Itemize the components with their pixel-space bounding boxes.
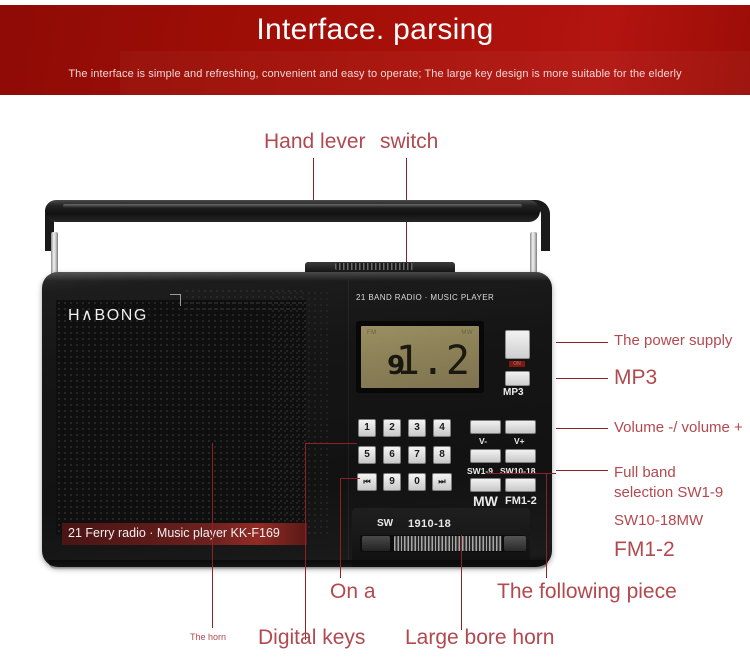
leader-line-following-piece [546, 473, 547, 578]
page-title: Interface. parsing [0, 13, 750, 47]
annotation-power-supply: The power supply [614, 332, 732, 349]
key-0[interactable]: 0 [408, 473, 426, 491]
key-6[interactable]: 6 [383, 446, 401, 464]
annotation-selection-sw1-9: selection SW1-9 [614, 484, 723, 501]
key-1[interactable]: 1 [358, 419, 376, 437]
annotation-volume: Volume -/ volume + [614, 419, 743, 436]
mw-label: MW [473, 493, 498, 509]
annotation-the-horn: The horn [190, 632, 226, 642]
lcd-indicator-fm: FM [367, 330, 377, 336]
leader-line-power-supply [556, 342, 608, 343]
annotation-on-a: On a [330, 580, 376, 604]
panel-title: 21 BAND RADIO · MUSIC PLAYER [356, 293, 494, 302]
annotation-full-band: Full band [614, 464, 676, 481]
fm1-2-label: FM1-2 [505, 495, 537, 507]
leader-line-hand-lever [313, 158, 314, 206]
leader-line-digital-keys [305, 443, 306, 640]
sw1-9-button[interactable] [470, 449, 501, 463]
header-banner: Interface. parsing The interface is simp… [0, 5, 750, 95]
power-indicator-light: ON [509, 361, 525, 367]
carry-handle[interactable] [45, 200, 540, 222]
key-5[interactable]: 5 [358, 446, 376, 464]
body-bottom-shadow [48, 560, 548, 570]
tuner-frequency-label: 1910-18 [408, 518, 451, 530]
leader-line-on-a [340, 478, 341, 578]
annotation-hand-lever: Hand lever [264, 130, 366, 154]
model-label-text: 21 Ferry radio · Music player KK-F169 [68, 526, 280, 540]
key-next-track[interactable]: ⏭ [432, 473, 452, 491]
tuning-wheel[interactable] [394, 536, 502, 551]
key-9[interactable]: 9 [383, 473, 401, 491]
power-button[interactable] [505, 330, 530, 359]
lcd-frequency: 1.2 [396, 338, 471, 384]
key-3[interactable]: 3 [408, 419, 426, 437]
key-8[interactable]: 8 [433, 446, 451, 464]
annotation-sw10-18mw: SW10-18MW [614, 512, 703, 529]
mw-button[interactable] [470, 478, 501, 492]
sw10-18-label: SW10-18 [500, 466, 535, 476]
leader-line-the-horn [212, 443, 213, 628]
speaker-grille-right [270, 290, 332, 535]
leader-line-large-bore-horn [461, 535, 462, 630]
mp3-button[interactable] [505, 371, 530, 386]
tuning-wheel-end[interactable] [504, 536, 526, 551]
mp3-button-label: MP3 [503, 387, 524, 398]
annotation-large-bore-horn: Large bore horn [405, 626, 554, 650]
annotation-switch: switch [380, 130, 438, 154]
leader-line-full-band [556, 470, 608, 471]
key-previous-track[interactable]: ⏮ [357, 473, 377, 491]
volume-up-label: V+ [514, 436, 525, 446]
volume-down-button[interactable] [470, 420, 501, 434]
body-highlight [42, 272, 552, 281]
volume-up-button[interactable] [505, 420, 536, 434]
key-7[interactable]: 7 [408, 446, 426, 464]
brand-logo: H∧BONG [68, 305, 148, 325]
annotation-fm1-2: FM1-2 [614, 538, 675, 562]
leader-line-volume [556, 428, 608, 429]
leader-line-mp3 [556, 378, 608, 379]
speaker-grille [56, 300, 306, 535]
sw1-9-label: SW1-9 [467, 466, 493, 476]
power-switch-slider[interactable] [335, 263, 413, 270]
lcd-indicator-mw: MW [461, 330, 473, 336]
annotation-mp3: MP3 [614, 366, 657, 390]
tuner-knob[interactable] [362, 536, 390, 551]
fm1-2-button[interactable] [505, 478, 536, 492]
tuner-band-label: SW [377, 518, 393, 529]
annotation-digital-keys: Digital keys [258, 626, 365, 650]
indicator-corner-icon [170, 294, 181, 306]
leader-line-keypad-top [305, 443, 357, 444]
lcd-display: FM MW 6 1.2 [361, 326, 479, 388]
key-2[interactable]: 2 [383, 419, 401, 437]
page-root: Interface. parsing The interface is simp… [0, 0, 750, 665]
panel-divider [348, 280, 349, 560]
key-4[interactable]: 4 [433, 419, 451, 437]
page-subtitle: The interface is simple and refreshing, … [0, 68, 750, 80]
leader-line-on-a-h [340, 478, 360, 479]
volume-down-label: V- [479, 436, 487, 446]
sw10-18-button[interactable] [505, 449, 536, 463]
annotation-following-piece: The following piece [497, 580, 677, 604]
